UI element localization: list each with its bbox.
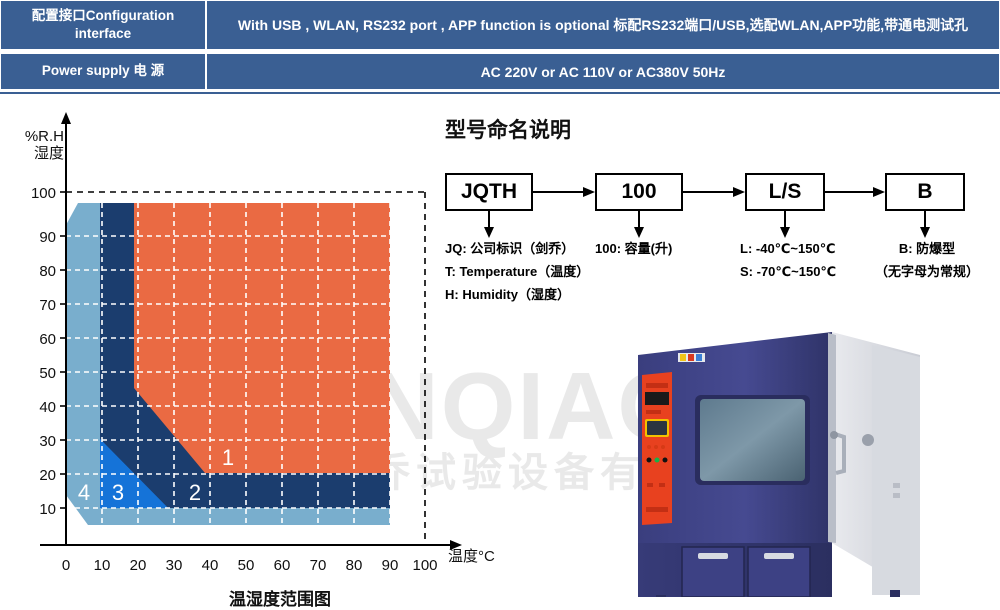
table-row: Power supply 电 源 AC 220V or AC 110V or A… [0,53,1000,90]
x-tick-60: 60 [274,557,291,574]
x-tick-90: 90 [382,557,399,574]
x-tick-50: 50 [238,557,255,574]
chart-zone-label-3: 3 [112,480,124,505]
page-root: 配置接口Configuration interface With USB , W… [0,0,1000,597]
y-tick-10: 10 [39,501,56,518]
x-tick-20: 20 [130,557,147,574]
table-bottom-rule [0,92,1000,94]
chart-zone-label-1: 1 [222,445,234,470]
naming-legend-line: B: 防爆型 [872,238,982,261]
y-tick-90: 90 [39,229,56,246]
chamber-viewing-window [695,395,810,485]
y-tick-60: 60 [39,331,56,348]
naming-box-temp-range: L/S [745,173,825,211]
naming-legend-line: JQ: 公司标识（剑乔） [445,238,589,261]
control-panel [642,372,672,525]
naming-legend-line: （无字母为常规） [872,261,982,284]
cabinet-handle [698,553,728,559]
x-tick-100: 100 [412,557,437,574]
chart-zone-label-2: 2 [189,480,201,505]
naming-box-capacity: 100 [595,173,683,211]
spec-label-configuration-interface: 配置接口Configuration interface [0,0,206,50]
x-tick-40: 40 [202,557,219,574]
chart-plot-svg: 100 90 80 70 60 50 40 30 20 10 0 10 20 3… [0,100,470,597]
y-tick-30: 30 [39,433,56,450]
chart-y-tick-labels: 100 90 80 70 60 50 40 30 20 10 [31,185,56,518]
chart-caption: 温湿度范围图 [150,585,410,610]
naming-legend-series: JQ: 公司标识（剑乔） T: Temperature（温度） H: Humid… [445,238,589,306]
x-tick-10: 10 [94,557,111,574]
chart-zone-label-4: 4 [78,480,90,505]
naming-legend-capacity: 100: 容量(升) [595,238,672,261]
y-tick-100: 100 [31,185,56,202]
naming-legend-line: H: Humidity（湿度） [445,284,589,307]
y-tick-70: 70 [39,297,56,314]
y-tick-50: 50 [39,365,56,382]
chart-zone-1-area [134,203,390,473]
chart-x-axis-label: 温度°C [448,545,495,566]
x-tick-0: 0 [62,557,70,574]
naming-legend-temp-range: L: -40℃~150℃ S: -70℃~150℃ [740,238,836,284]
naming-legend-line: 100: 容量(升) [595,238,672,261]
naming-legend-type: B: 防爆型 （无字母为常规） [872,238,982,284]
status-indicator-lights [678,353,705,362]
naming-box-series: JQTH [445,173,533,211]
spec-value-configuration-interface: With USB , WLAN, RS232 port , APP functi… [206,0,1000,50]
y-tick-20: 20 [39,467,56,484]
naming-legend-line: S: -70℃~150℃ [740,261,836,284]
spec-value-power-supply: AC 220V or AC 110V or AC380V 50Hz [206,53,1000,90]
cabinet-handle [764,553,794,559]
chamber-illustration [600,295,1000,597]
naming-legend-line: T: Temperature（温度） [445,261,589,284]
temperature-humidity-chart: %R.H 湿度 [0,100,470,597]
chart-x-tick-labels: 0 10 20 30 40 50 60 70 80 90 100 [62,557,438,574]
spec-label-power-supply: Power supply 电 源 [0,53,206,90]
x-tick-30: 30 [166,557,183,574]
y-tick-40: 40 [39,399,56,416]
x-tick-70: 70 [310,557,327,574]
table-row: 配置接口Configuration interface With USB , W… [0,0,1000,50]
x-tick-80: 80 [346,557,363,574]
model-naming-diagram: 型号命名说明 JQTH 100 L/S [440,110,1000,320]
chamber-base-cabinet [638,540,832,597]
product-photo [600,295,1000,597]
side-port [862,434,874,446]
naming-box-type: B [885,173,965,211]
naming-legend-line: L: -40℃~150℃ [740,238,836,261]
controller-display [645,392,669,405]
y-tick-80: 80 [39,263,56,280]
